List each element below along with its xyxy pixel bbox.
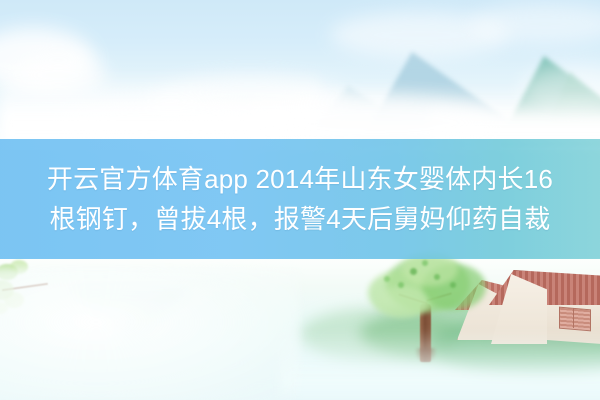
tree-leaf <box>434 274 440 280</box>
tree-leaf <box>398 282 404 288</box>
headline-band: 开云官方体育app 2014年山东女婴体内长16 根钢钉，曾拔4根，报警4天后舅… <box>0 139 600 259</box>
tree-leaf <box>410 268 417 275</box>
tree-canopy <box>376 286 428 318</box>
headline-line-1: 开云官方体育app 2014年山东女婴体内长16 <box>47 160 553 198</box>
cottage-window-mullion <box>573 308 574 328</box>
tree-leaf <box>422 260 428 266</box>
left-haze <box>0 268 300 400</box>
ground-mist-fade <box>280 330 600 400</box>
tree-leaf <box>450 282 456 288</box>
cottage-window <box>559 307 591 332</box>
headline-text: 开云官方体育app 2014年山东女婴体内长16 根钢钉，曾拔4根，报警4天后舅… <box>0 139 600 259</box>
headline-line-2: 根钢钉，曾拔4根，报警4天后舅妈仰药自裁 <box>50 200 551 238</box>
banner-image: 开云官方体育app 2014年山东女婴体内长16 根钢钉，曾拔4根，报警4天后舅… <box>0 0 600 400</box>
tree-leaf <box>384 276 390 282</box>
